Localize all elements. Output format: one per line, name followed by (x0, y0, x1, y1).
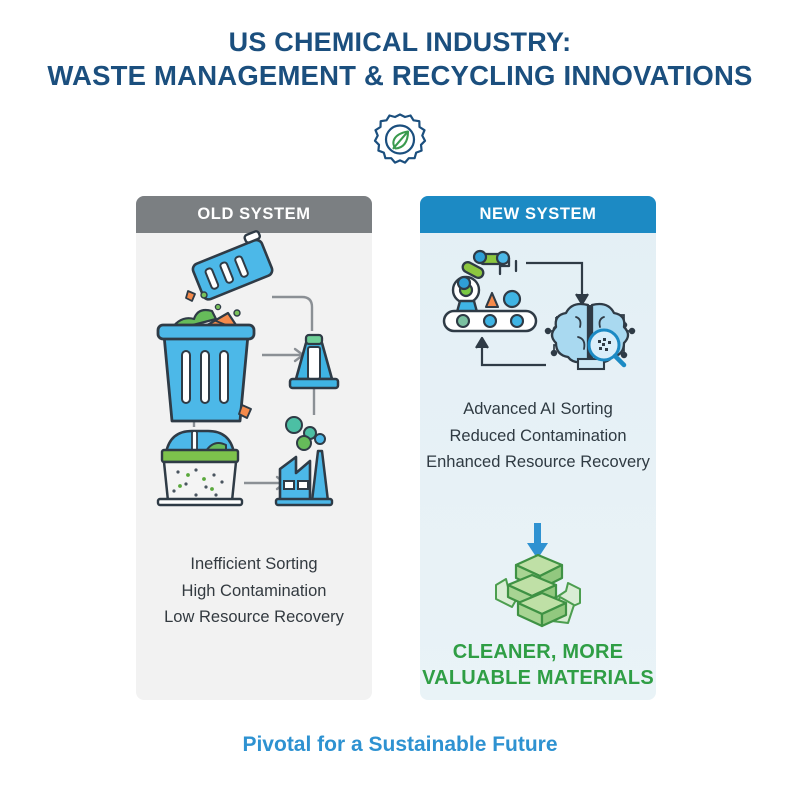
old-point-3: Low Resource Recovery (136, 604, 372, 631)
panel-new-system: NEW SYSTEM (420, 196, 656, 700)
result-line-1: CLEANER, MORE (420, 639, 656, 665)
new-point-2: Reduced Contamination (420, 423, 656, 450)
panel-new-body: Advanced AI Sorting Reduced Contaminatio… (420, 233, 656, 700)
panel-new-heading: NEW SYSTEM (420, 196, 656, 233)
new-system-result: CLEANER, MORE VALUABLE MATERIALS (420, 639, 656, 691)
new-point-1: Advanced AI Sorting (420, 396, 656, 423)
gear-leaf-icon (368, 110, 432, 174)
panel-old-heading: OLD SYSTEM (136, 196, 372, 233)
infographic-canvas: US CHEMICAL INDUSTRY: WASTE MANAGEMENT &… (0, 0, 800, 800)
footer-caption: Pivotal for a Sustainable Future (0, 733, 800, 757)
recycled-bales-illustration (478, 523, 598, 635)
panel-old-system: OLD SYSTEM (136, 196, 372, 700)
page-title: US CHEMICAL INDUSTRY: WASTE MANAGEMENT &… (0, 26, 800, 92)
old-point-2: High Contamination (136, 578, 372, 605)
old-system-points: Inefficient Sorting High Contamination L… (136, 551, 372, 631)
title-line-2: WASTE MANAGEMENT & RECYCLING INNOVATIONS (0, 59, 800, 92)
result-line-2: VALUABLE MATERIALS (420, 665, 656, 691)
old-system-illustration (144, 239, 364, 539)
panel-old-body: Inefficient Sorting High Contamination L… (136, 233, 372, 700)
title-line-1: US CHEMICAL INDUSTRY: (0, 26, 800, 59)
ai-sorting-illustration (430, 241, 648, 383)
new-point-3: Enhanced Resource Recovery (420, 449, 656, 476)
new-system-points: Advanced AI Sorting Reduced Contaminatio… (420, 396, 656, 476)
old-point-1: Inefficient Sorting (136, 551, 372, 578)
